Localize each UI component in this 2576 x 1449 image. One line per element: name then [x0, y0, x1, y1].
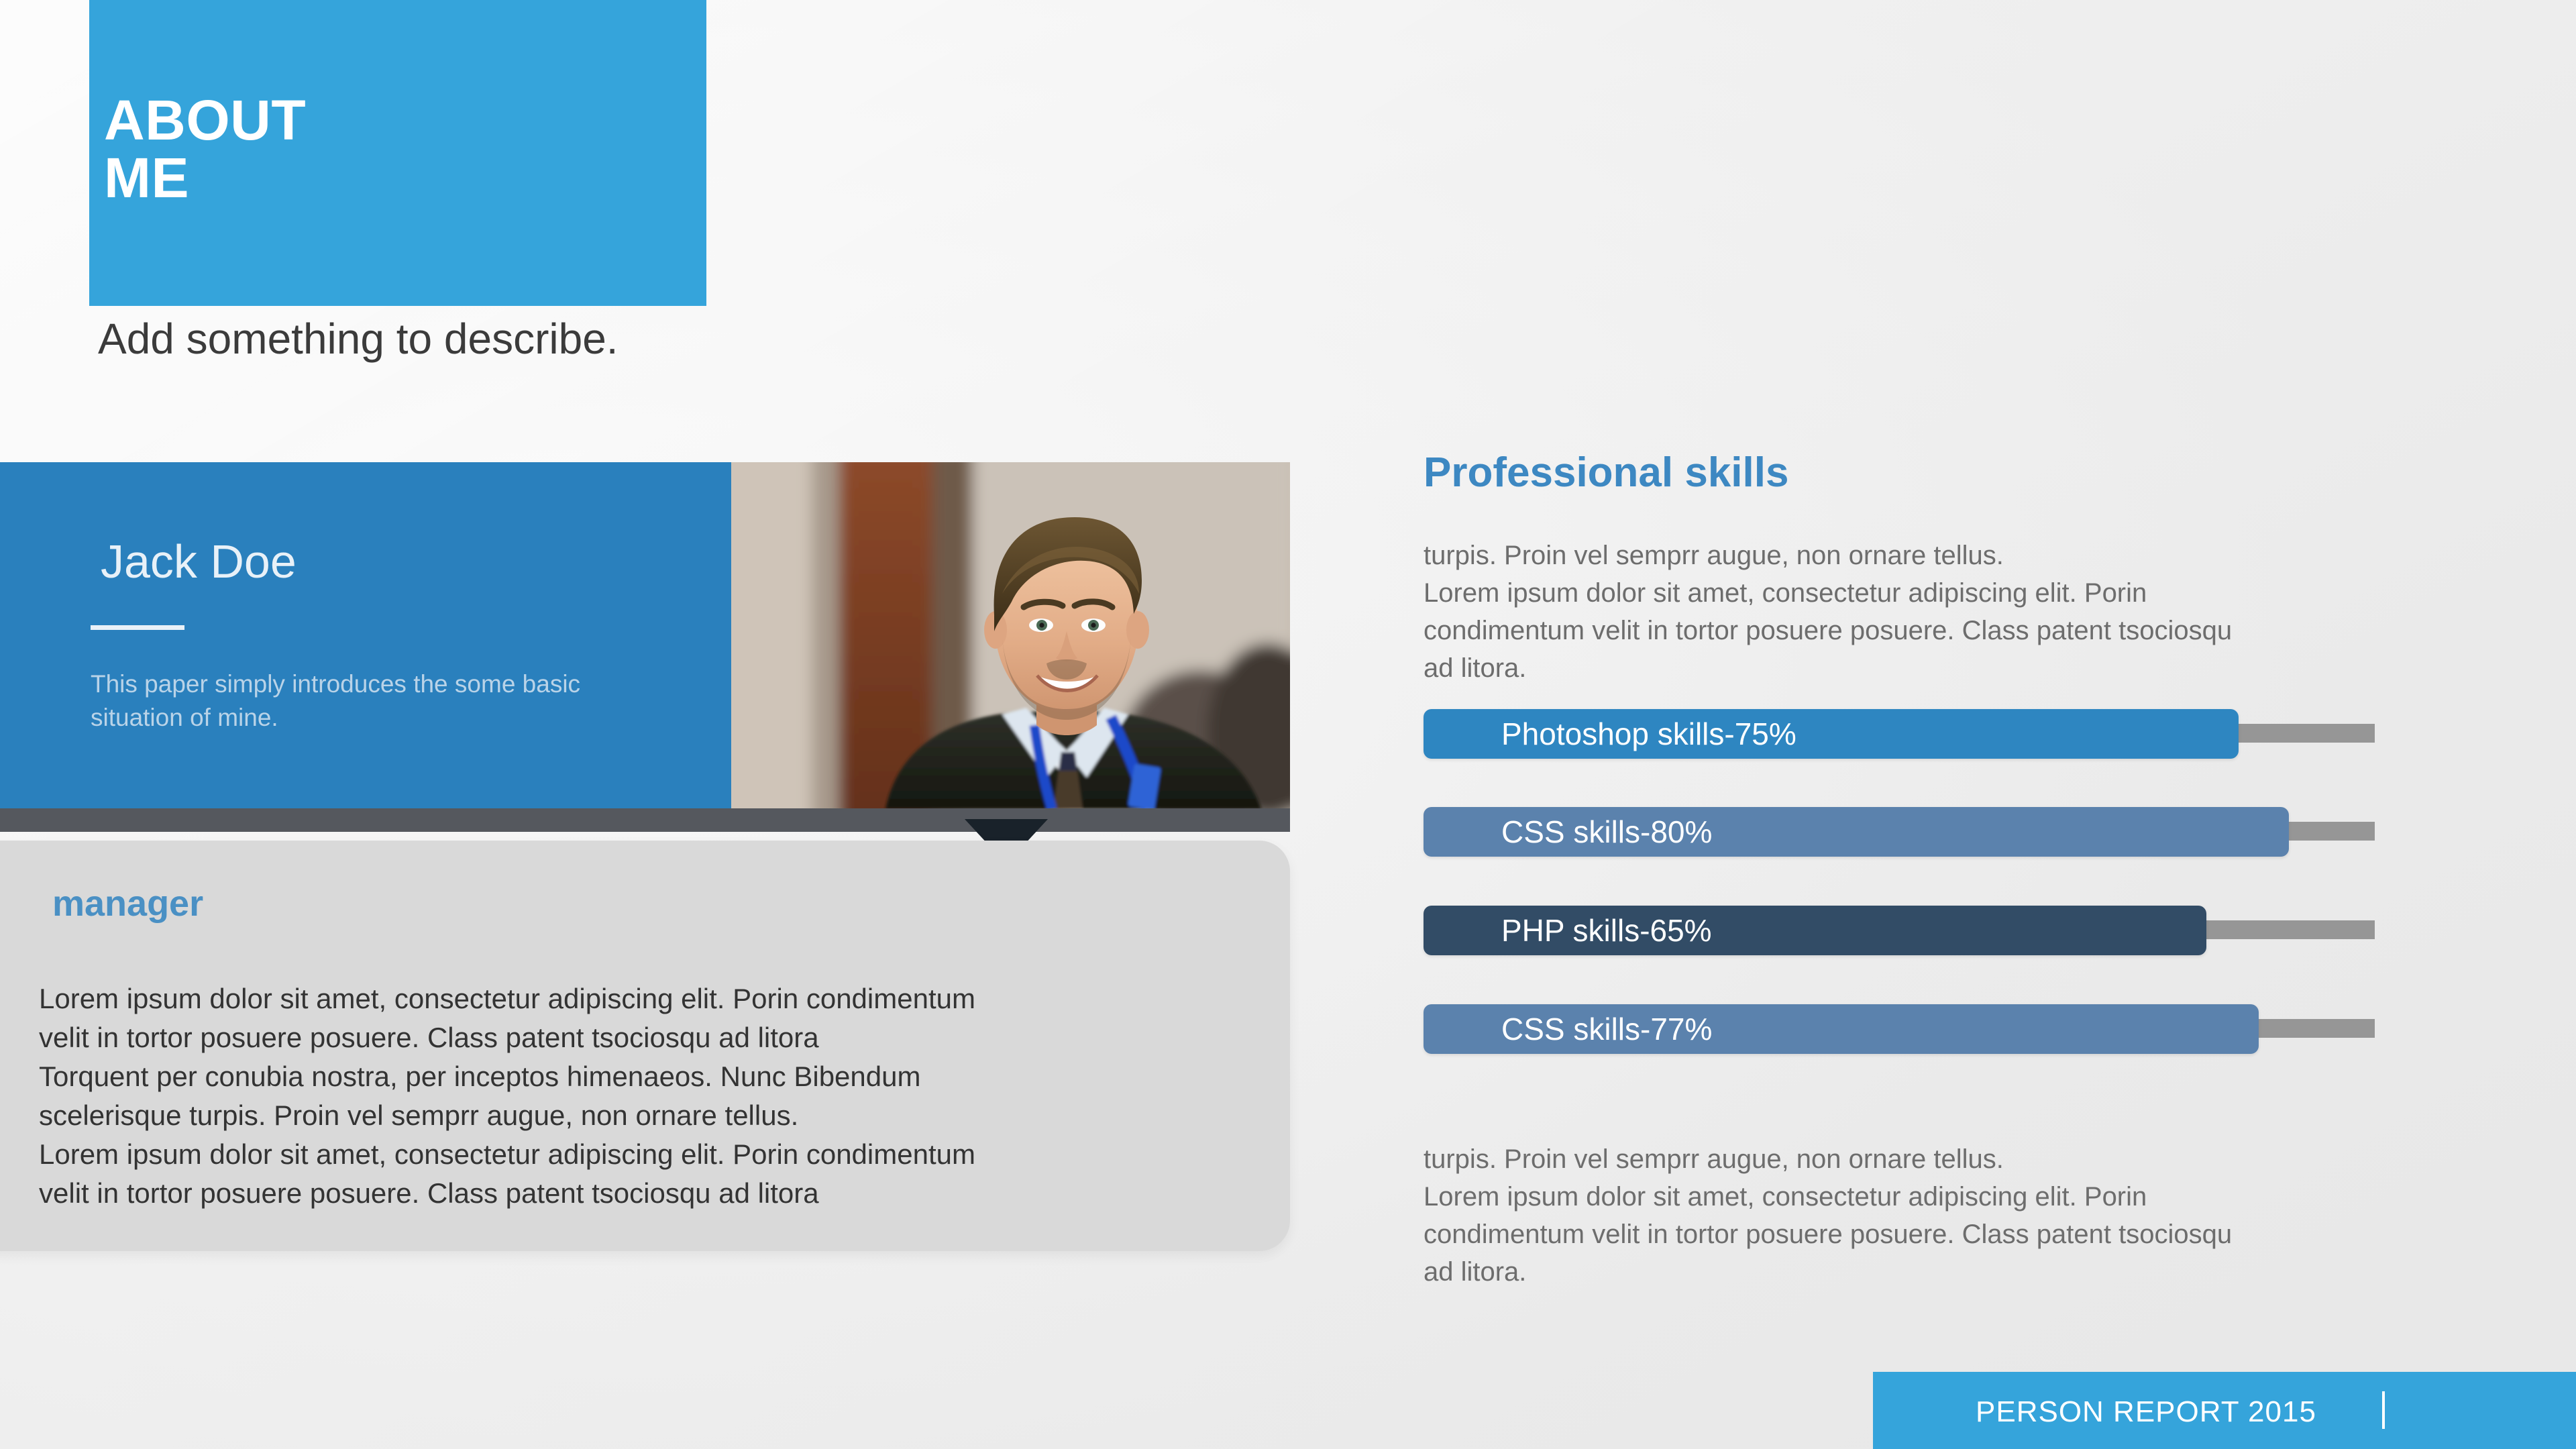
- skill-bar-fill[interactable]: Photoshop skills-75%: [1424, 709, 2239, 759]
- skill-bar-fill[interactable]: CSS skills-80%: [1424, 807, 2289, 857]
- footer-divider: [2382, 1391, 2385, 1429]
- skill-row: PHP skills-65%: [1424, 906, 2375, 955]
- skill-bar-fill[interactable]: PHP skills-65%: [1424, 906, 2206, 955]
- skill-row: CSS skills-77%: [1424, 1004, 2375, 1054]
- footer-label: PERSON REPORT 2015: [1976, 1397, 2316, 1428]
- skill-row: Photoshop skills-75%: [1424, 709, 2375, 759]
- skill-bar-label: CSS skills-80%: [1424, 816, 1712, 847]
- skill-bar-label: PHP skills-65%: [1424, 915, 1712, 946]
- skill-row: CSS skills-80%: [1424, 807, 2375, 857]
- skill-bar-label: Photoshop skills-75%: [1424, 718, 1796, 749]
- skill-bar-fill[interactable]: CSS skills-77%: [1424, 1004, 2259, 1054]
- skill-bar-label: CSS skills-77%: [1424, 1014, 1712, 1044]
- skills-outro-text: turpis. Proin vel semprr augue, non orna…: [1424, 1140, 2504, 1291]
